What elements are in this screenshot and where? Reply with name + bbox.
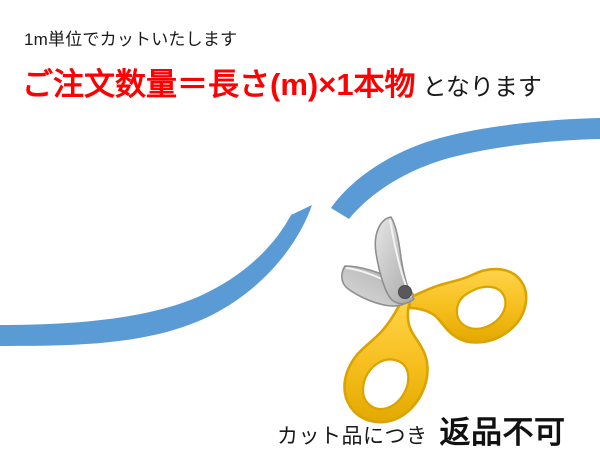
headline-line-2: ご注文数量＝長さ(m)×1本物となります [22, 66, 542, 110]
cord-left-piece [0, 205, 312, 346]
headline-line-1: 1m単位でカットいたします [24, 29, 237, 51]
cord-right-piece [331, 118, 600, 219]
cut-notice-graphic: 1m単位でカットいたします ご注文数量＝長さ(m)×1本物となります カット品に… [0, 0, 600, 466]
footnote-small: カット品につき [277, 425, 428, 448]
footnote: カット品につき返品不可 [277, 413, 566, 459]
headline-tail: となります [423, 74, 542, 101]
footnote-emphasis: 返品不可 [440, 415, 566, 450]
headline-emphasis: ご注文数量＝長さ(m)×1本物 [22, 67, 416, 102]
